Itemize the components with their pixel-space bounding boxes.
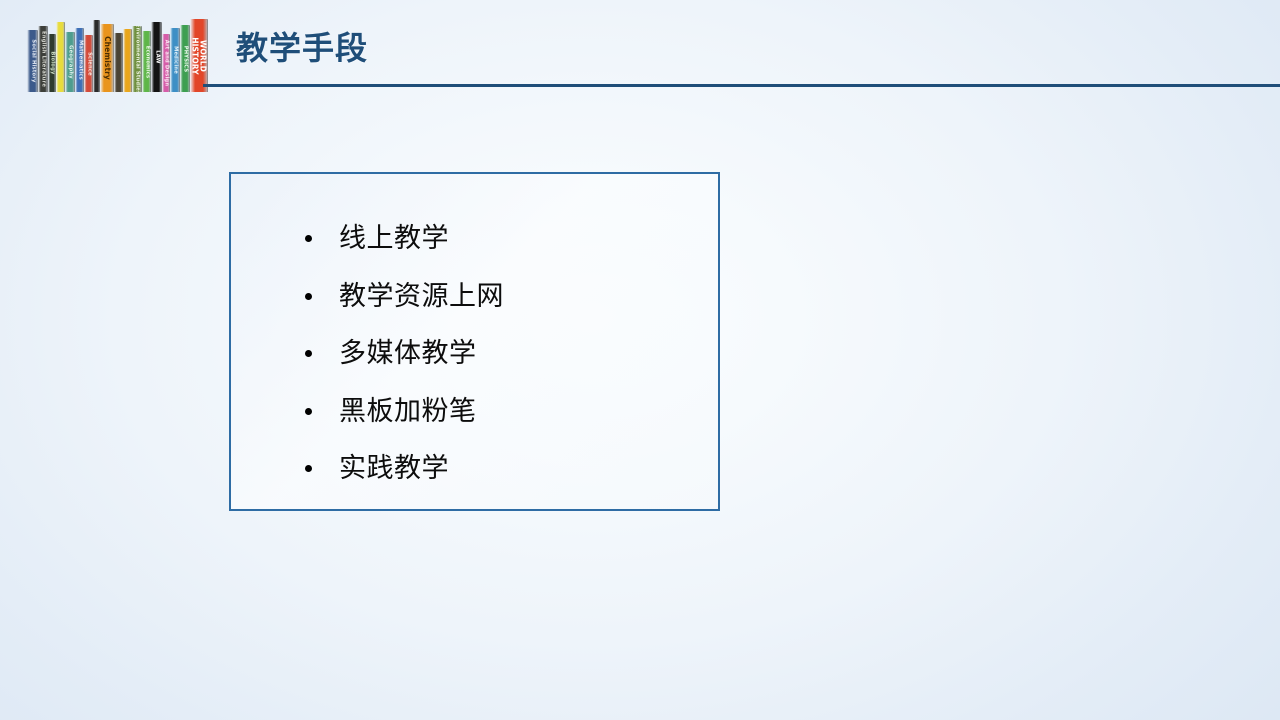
book-spine: Environmental Studies (132, 26, 142, 92)
book-spine: Chemistry (100, 24, 114, 92)
slide-header: Social HistoryEnglish LiteratureBiologyG… (0, 0, 1280, 100)
book-spine-label: Geography (67, 45, 72, 79)
book-spine (93, 20, 100, 92)
book-spine-label: PHYSICS (182, 45, 187, 72)
book-spine (114, 33, 123, 92)
book-spine (56, 22, 65, 92)
bullet-dot-icon (305, 293, 312, 300)
book-spine-label: Science (86, 52, 91, 76)
book-spine-label: WORLD HISTORY (192, 28, 207, 84)
book-spine: WORLD HISTORY (190, 19, 208, 92)
stack-of-books-icon: Social HistoryEnglish LiteratureBiologyG… (27, 17, 193, 92)
list-item[interactable]: 教学资源上网 (305, 268, 718, 326)
book-spine: Economics (142, 31, 151, 92)
book-spine: Art and Design (162, 34, 170, 92)
book-spine: LAW (151, 22, 162, 92)
list-item-label: 黑板加粉笔 (339, 398, 477, 425)
bullet-dot-icon (305, 465, 312, 472)
title-underline-rule (203, 84, 1280, 87)
list-item[interactable]: 黑板加粉笔 (305, 383, 718, 441)
bullet-list: 线上教学教学资源上网多媒体教学黑板加粉笔实践教学 (231, 174, 718, 509)
list-item-label: 实践教学 (339, 455, 449, 482)
list-item[interactable]: 实践教学 (305, 440, 718, 498)
list-item[interactable]: 多媒体教学 (305, 325, 718, 383)
book-spine: Geography (65, 32, 75, 92)
book-spine: Mathematics (75, 28, 84, 92)
list-item[interactable]: 线上教学 (305, 210, 718, 268)
book-spine: Social History (27, 30, 38, 92)
bullet-dot-icon (305, 235, 312, 242)
book-spine: English Literature (38, 26, 48, 92)
book-spine: PHYSICS (180, 25, 190, 92)
page-title: 教学手段 (236, 28, 368, 68)
slide-canvas: Social HistoryEnglish LiteratureBiologyG… (0, 0, 1280, 720)
content-box: 线上教学教学资源上网多媒体教学黑板加粉笔实践教学 (229, 172, 720, 511)
book-spine: Science (84, 35, 93, 92)
book-spine-label: Art and Design (163, 40, 168, 86)
book-spine-label: Chemistry (103, 30, 111, 86)
book-spine-label: Medicine (172, 46, 177, 74)
book-spine-label: Environmental Studies (134, 26, 139, 92)
list-item-label: 教学资源上网 (339, 283, 504, 310)
list-item-label: 线上教学 (339, 225, 449, 252)
book-spine-label: English Literature (40, 31, 45, 87)
book-spine (123, 29, 132, 92)
book-spine: Biology (48, 34, 56, 92)
book-spine-label: Mathematics (77, 40, 82, 80)
bullet-dot-icon (305, 408, 312, 415)
book-spine-label: LAW (154, 50, 159, 63)
book-spine-label: Biology (49, 51, 54, 74)
book-spine: Medicine (170, 28, 180, 92)
bullet-dot-icon (305, 350, 312, 357)
book-spine-label: Economics (144, 45, 149, 78)
list-item-label: 多媒体教学 (339, 340, 477, 367)
book-spine-label: Social History (30, 39, 35, 82)
